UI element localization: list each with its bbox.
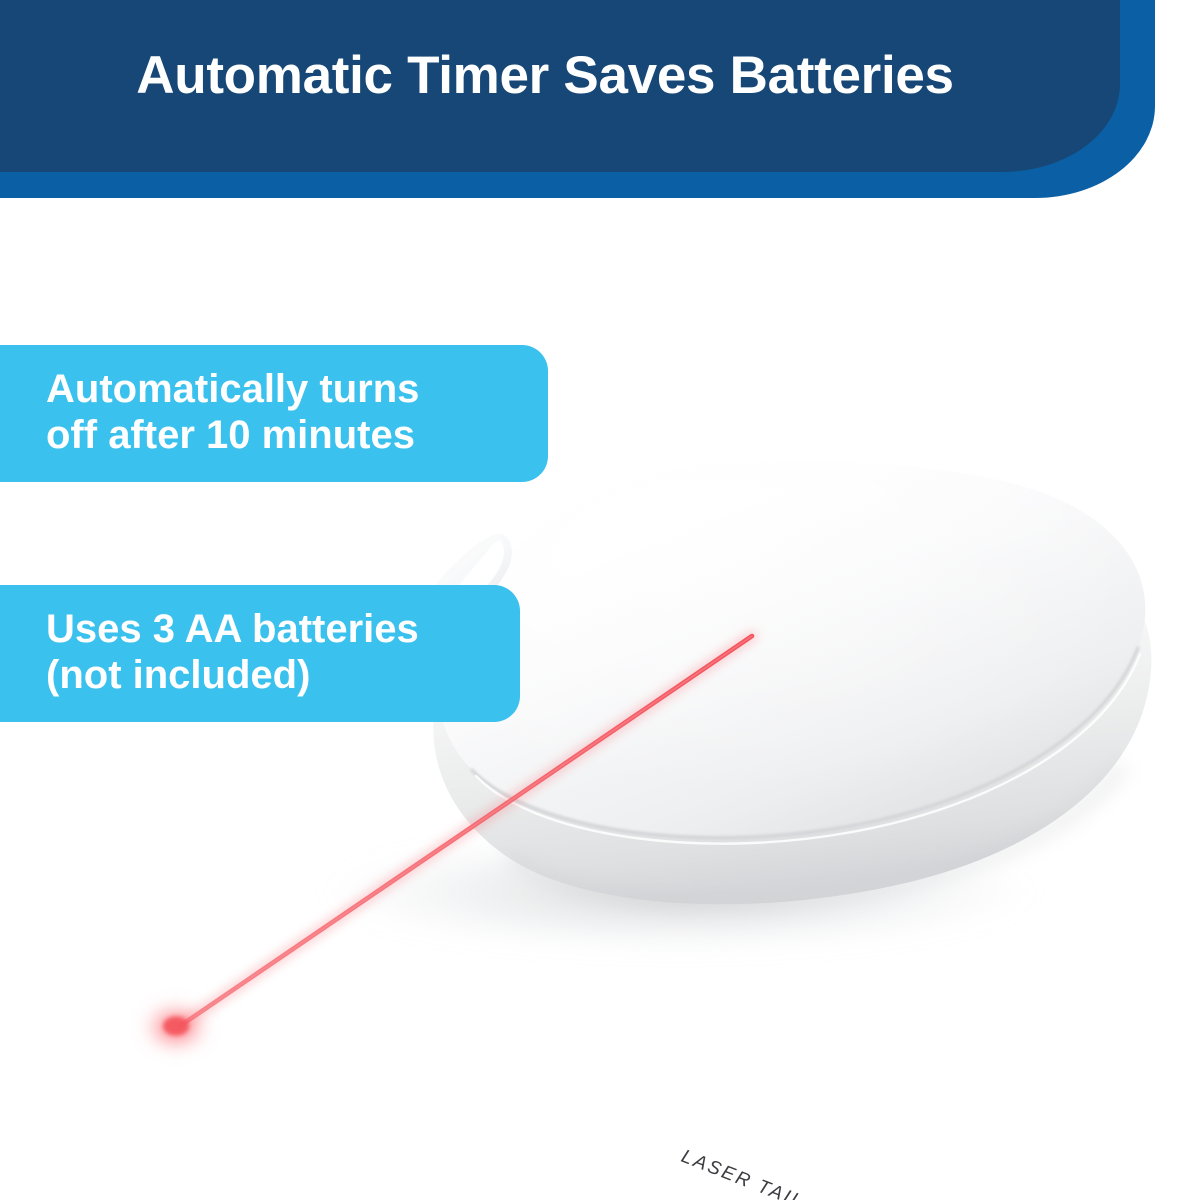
callout-battery-requirement: Uses 3 AA batteries (not included) — [0, 585, 520, 722]
callout-auto-shutoff: Automatically turns off after 10 minutes — [0, 345, 548, 482]
header-banner: Automatic Timer Saves Batteries — [0, 0, 1200, 200]
laser-device-illustration — [120, 440, 1200, 1080]
product-brand-wordmark: LASER TAIL — [678, 1146, 807, 1200]
product-image: LASER TAIL — [120, 440, 1200, 1080]
page-title: Automatic Timer Saves Batteries — [0, 47, 1090, 105]
product-feature-poster: Automatic Timer Saves Batteries — [0, 0, 1200, 1200]
